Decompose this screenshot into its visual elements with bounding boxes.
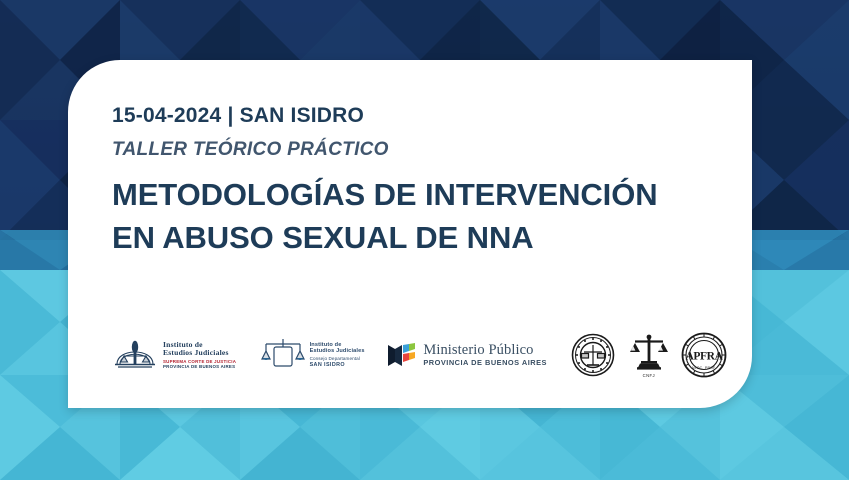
event-title-line-2: EN ABUSO SEXUAL DE NNA (112, 218, 722, 259)
logo-instituto-estudios-judiciales-san-isidro: Instituto de Estudios Judiciales Consejo… (261, 335, 388, 375)
event-title-line-1: METODOLOGÍAS DE INTERVENCIÓN (112, 175, 722, 216)
logo-ministerio-publico: Ministerio Público PROVINCIA DE BUENOS A… (387, 341, 565, 369)
logo-2-line-3: Consejo Departamental (310, 356, 365, 361)
svg-text:ASOC. PROF.: ASOC. PROF. (692, 366, 717, 370)
headline-block: 15-04-2024 | SAN ISIDRO TALLER TEÓRICO P… (112, 104, 722, 259)
circular-seal-scales-icon (571, 333, 615, 377)
logo-seal-colegio-abogados (566, 333, 621, 377)
logo-seal-cnfj: CNFJ (621, 332, 676, 378)
event-subtitle: TALLER TEÓRICO PRÁCTICO (112, 140, 722, 161)
dome-scales-emblem-icon (112, 335, 158, 375)
scales-of-justice-emblem-icon (629, 332, 669, 372)
logo-2-line-4: SAN ISIDRO (310, 362, 365, 368)
balance-scales-emblem-icon (261, 335, 305, 375)
logo-seal-apfra: APFRA ASOC. PROF. (677, 332, 732, 378)
logo-5-caption: CNFJ (643, 373, 655, 378)
logo-1-line-2: Estudios Judiciales (163, 349, 236, 358)
logo-3-line-1: Ministerio Público (423, 342, 547, 358)
logo-3-line-2: PROVINCIA DE BUENOS AIRES (423, 359, 547, 367)
svg-text:APFRA: APFRA (686, 351, 724, 363)
sponsor-logo-row: Instituto de Estudios Judiciales SUPREMA… (112, 324, 732, 386)
logo-2-line-2: Estudios Judiciales (310, 348, 365, 354)
date-location-line: 15-04-2024 | SAN ISIDRO (112, 104, 722, 127)
poster-canvas: 15-04-2024 | SAN ISIDRO TALLER TEÓRICO P… (0, 0, 849, 480)
mp-folded-flag-mark-icon (387, 341, 417, 369)
circular-seal-apfra-icon: APFRA ASOC. PROF. (681, 332, 727, 378)
logo-instituto-estudios-judiciales-scjba: Instituto de Estudios Judiciales SUPREMA… (112, 335, 261, 375)
content-card: 15-04-2024 | SAN ISIDRO TALLER TEÓRICO P… (68, 60, 752, 408)
logo-1-line-4: PROVINCIA DE BUENOS AIRES (163, 365, 236, 370)
